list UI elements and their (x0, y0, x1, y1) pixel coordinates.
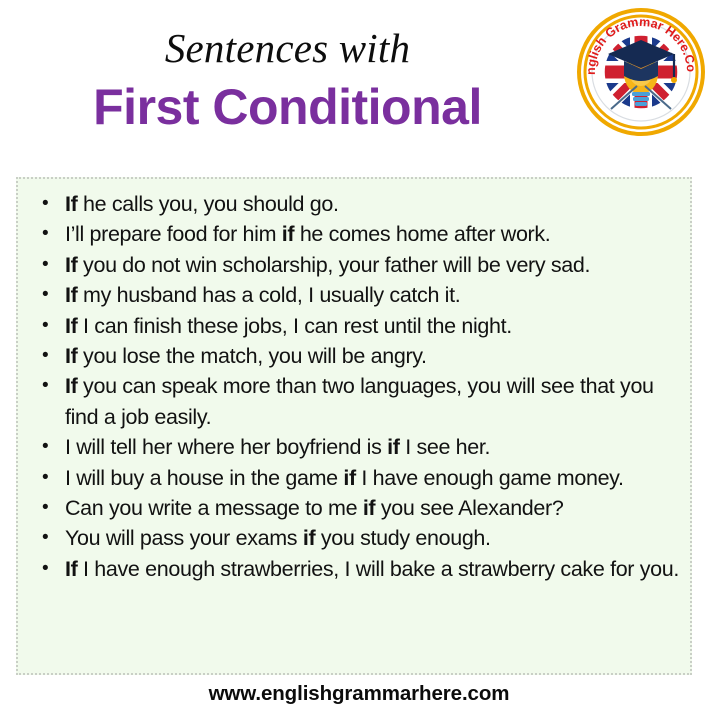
sentence-text: I have enough game money. (356, 466, 624, 490)
list-item: If you lose the match, you will be angry… (18, 341, 690, 371)
conditional-keyword: If (65, 192, 77, 216)
list-item: If my husband has a cold, I usually catc… (18, 280, 690, 310)
conditional-keyword: If (65, 314, 77, 338)
conditional-keyword: If (65, 557, 77, 581)
conditional-keyword: If (65, 344, 77, 368)
conditional-keyword: If (65, 374, 77, 398)
list-item: If you do not win scholarship, your fath… (18, 250, 690, 280)
page-subtitle: Sentences with (0, 0, 575, 72)
sentences-content-box: If he calls you, you should go.I’ll prep… (16, 177, 692, 675)
list-item: I will buy a house in the game if I have… (18, 463, 690, 493)
list-item: If you can speak more than two languages… (18, 371, 690, 432)
list-item: If he calls you, you should go. (18, 189, 690, 219)
sentence-text: my husband has a cold, I usually catch i… (77, 283, 460, 307)
page-footer: www.englishgrammarhere.com (0, 681, 718, 707)
sentence-text: I will tell her where her boyfriend is (65, 435, 387, 459)
sentence-text: You will pass your exams (65, 526, 303, 550)
sentence-text: he comes home after work. (294, 222, 550, 246)
conditional-keyword: if (343, 466, 355, 490)
list-item: If I have enough strawberries, I will ba… (18, 554, 690, 584)
english-grammar-here-logo: English Grammar Here.Com (577, 8, 705, 136)
sentence-text: I’ll prepare food for him (65, 222, 282, 246)
list-item: If I can finish these jobs, I can rest u… (18, 311, 690, 341)
sentence-text: you see Alexander? (375, 496, 563, 520)
sentence-text: I will buy a house in the game (65, 466, 343, 490)
sentence-text: I have enough strawberries, I will bake … (77, 557, 679, 581)
page-title: First Conditional (0, 72, 575, 135)
conditional-keyword: If (65, 283, 77, 307)
conditional-keyword: If (65, 253, 77, 277)
conditional-keyword: if (387, 435, 399, 459)
page-header: Sentences with First Conditional (0, 0, 718, 172)
conditional-keyword: if (282, 222, 294, 246)
sentence-text: you lose the match, you will be angry. (77, 344, 426, 368)
website-url[interactable]: www.englishgrammarhere.com (209, 682, 510, 705)
list-item: I’ll prepare food for him if he comes ho… (18, 219, 690, 249)
conditional-keyword: if (303, 526, 315, 550)
sentence-text: he calls you, you should go. (77, 192, 338, 216)
sentence-text: you do not win scholarship, your father … (77, 253, 590, 277)
sentence-text: you can speak more than two languages, y… (65, 374, 654, 428)
sentence-text: Can you write a message to me (65, 496, 363, 520)
sentence-list: If he calls you, you should go.I’ll prep… (18, 189, 690, 584)
list-item: You will pass your exams if you study en… (18, 523, 690, 553)
sentence-text: you study enough. (315, 526, 490, 550)
title-block: Sentences with First Conditional (0, 0, 575, 135)
sentence-text: I see her. (400, 435, 491, 459)
list-item: I will tell her where her boyfriend is i… (18, 432, 690, 462)
conditional-keyword: if (363, 496, 375, 520)
sentence-text: I can finish these jobs, I can rest unti… (77, 314, 511, 338)
list-item: Can you write a message to me if you see… (18, 493, 690, 523)
